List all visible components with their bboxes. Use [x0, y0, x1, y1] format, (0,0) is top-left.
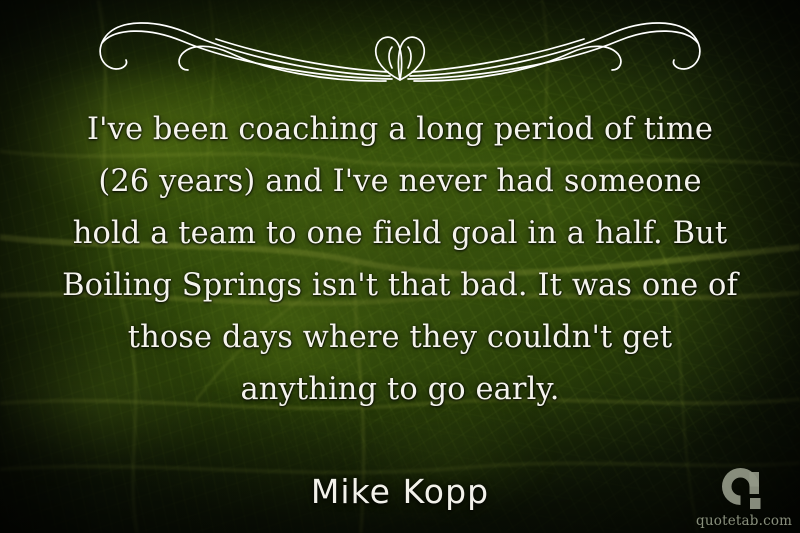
quote-text: I've been coaching a long period of time… — [40, 104, 760, 416]
watermark[interactable]: quotetab.com — [696, 466, 792, 529]
quote-image-card: I've been coaching a long period of time… — [0, 0, 800, 533]
decorative-flourish-icon — [70, 12, 730, 90]
quote-author-name: Mike Kopp — [0, 472, 800, 511]
watermark-site-label: quotetab.com — [696, 513, 792, 529]
quotetab-q-logo-icon[interactable] — [719, 466, 769, 514]
